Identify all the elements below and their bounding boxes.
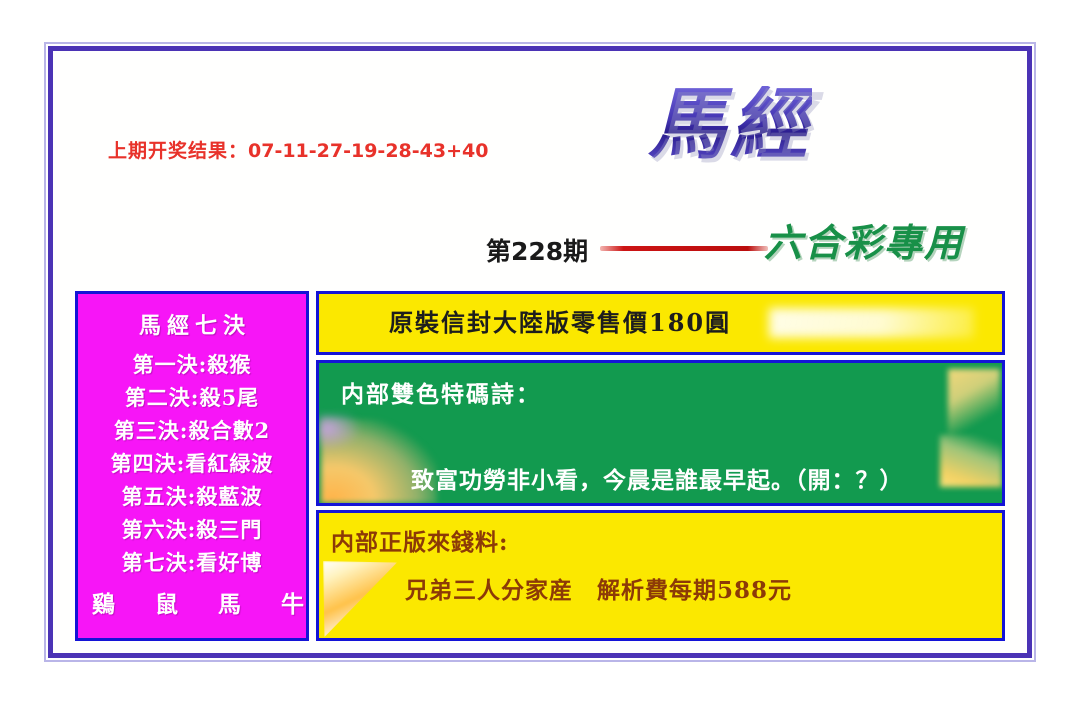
- material-line: 兄弟三人分家産 解析費每期588元: [319, 557, 1002, 605]
- list-item: 第七決:看好博: [78, 546, 306, 579]
- previous-draw-result: 上期开奖结果：07-11-27-19-28-43+40: [108, 136, 488, 163]
- poster-subtitle: 六合彩專用: [764, 224, 964, 262]
- list-item: 第五決:殺藍波: [78, 480, 306, 513]
- right-panel-stack: 原裝信封大陸版零售價180圓 内部雙色特碼詩： 致富功勞非小看，今晨是誰最早起。…: [316, 291, 1005, 641]
- brand-title: 馬經: [648, 86, 812, 164]
- previous-draw-label: 上期开奖结果：: [108, 140, 248, 162]
- poster-page: 上期开奖结果：07-11-27-19-28-43+40 馬經 第228期 六合彩…: [0, 0, 1080, 720]
- list-item: 第六決:殺三門: [78, 513, 306, 546]
- list-item: 第一決:殺猴: [78, 348, 306, 381]
- previous-draw-numbers: 07-11-27-19-28-43+40: [248, 140, 488, 162]
- list-item: 第四決:看紅緑波: [78, 447, 306, 480]
- seven-decisions-panel: 馬經七決 第一決:殺猴 第二決:殺5尾 第三決:殺合數2 第四決:看紅緑波 第五…: [75, 291, 309, 641]
- red-divider-rule: [600, 246, 768, 251]
- poem-line: 致富功勞非小看，今晨是誰最早起。（開：？）: [411, 461, 904, 495]
- poster-header: 上期开奖结果：07-11-27-19-28-43+40 馬經 第228期 六合彩…: [48, 46, 1032, 281]
- gradient-blob-left-secondary-icon: [319, 415, 359, 449]
- price-banner-text: 原裝信封大陸版零售價180圓: [319, 294, 1002, 352]
- money-material-panel: 内部正版來錢料: 兄弟三人分家産 解析費每期588元: [316, 510, 1005, 641]
- seven-decisions-list: 第一決:殺猴 第二決:殺5尾 第三決:殺合數2 第四決:看紅緑波 第五決:殺藍波…: [78, 348, 306, 579]
- price-banner-panel: 原裝信封大陸版零售價180圓: [316, 291, 1005, 355]
- poem-label: 内部雙色特碼詩：: [319, 363, 1002, 409]
- gradient-blob-right-secondary-icon: [940, 435, 1002, 487]
- list-item: 第二決:殺5尾: [78, 381, 306, 414]
- material-label: 内部正版來錢料:: [319, 513, 1002, 557]
- issue-number: 第228期: [486, 232, 588, 268]
- list-item: 第三決:殺合數2: [78, 414, 306, 447]
- zodiac-footer: 鷄 鼠 馬 牛: [78, 585, 306, 619]
- special-code-poem-panel: 内部雙色特碼詩： 致富功勞非小看，今晨是誰最早起。（開：？）: [316, 360, 1005, 506]
- seven-decisions-title: 馬經七決: [84, 308, 306, 340]
- poster-body: 馬經七決 第一決:殺猴 第二決:殺5尾 第三決:殺合數2 第四決:看紅緑波 第五…: [75, 291, 1005, 641]
